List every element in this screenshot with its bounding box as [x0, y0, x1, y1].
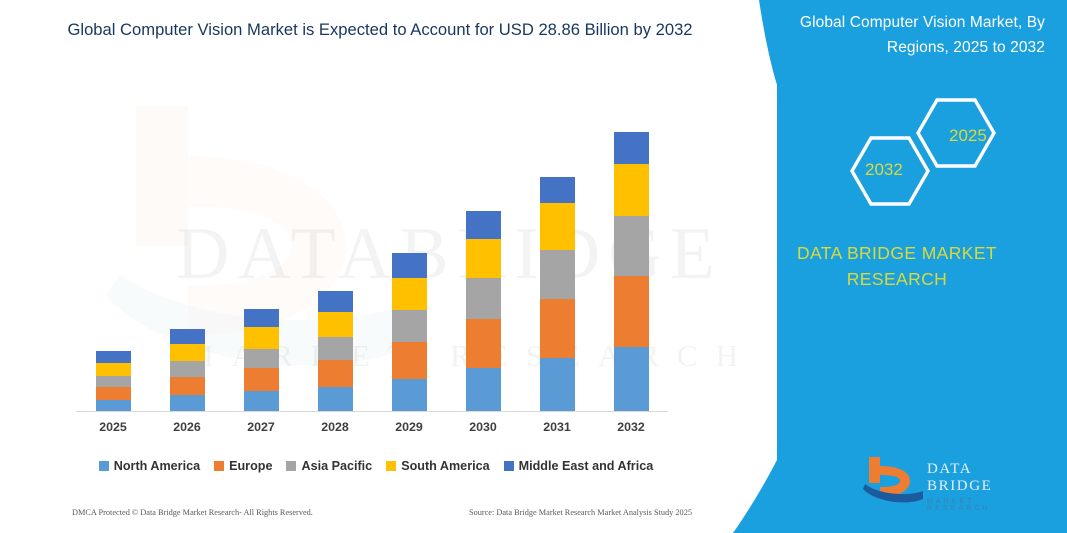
x-axis-label-2031: 2031: [533, 420, 581, 442]
bar-segment[interactable]: [540, 299, 575, 358]
bar-2030[interactable]: [466, 211, 501, 411]
bar-segment[interactable]: [318, 312, 353, 337]
bar-segment[interactable]: [466, 368, 501, 411]
bar-segment[interactable]: [614, 164, 649, 216]
bar-segment[interactable]: [244, 391, 279, 411]
bar-segment[interactable]: [392, 278, 427, 310]
chart-legend: North AmericaEuropeAsia PacificSouth Ame…: [76, 455, 676, 477]
data-bridge-b-logo-icon: [863, 455, 923, 507]
bar-segment[interactable]: [244, 349, 279, 368]
bar-2026[interactable]: [170, 329, 205, 411]
bar-segment[interactable]: [96, 351, 131, 363]
legend-swatch-icon: [214, 461, 224, 471]
hexagon-2025-label: 2025: [949, 126, 987, 146]
bar-segment[interactable]: [392, 379, 427, 411]
legend-swatch-icon: [386, 461, 396, 471]
bar-2025[interactable]: [96, 351, 131, 411]
legend-swatch-icon: [286, 461, 296, 471]
bar-segment[interactable]: [244, 368, 279, 391]
bar-segment[interactable]: [614, 216, 649, 276]
bar-segment[interactable]: [170, 377, 205, 395]
x-axis-label-2026: 2026: [163, 420, 211, 442]
bar-segment[interactable]: [318, 387, 353, 411]
legend-item[interactable]: Europe: [214, 459, 272, 473]
hexagon-outlines-icon: [837, 96, 1027, 208]
bar-2029[interactable]: [392, 253, 427, 411]
legend-label: Middle East and Africa: [519, 459, 654, 473]
legend-item[interactable]: Asia Pacific: [286, 459, 372, 473]
logo-text: DATA BRIDGE MARKET RESEARCH: [927, 461, 1039, 512]
x-axis-label-2030: 2030: [459, 420, 507, 442]
bar-2032[interactable]: [614, 132, 649, 411]
bar-segment[interactable]: [170, 361, 205, 377]
legend-swatch-icon: [504, 461, 514, 471]
bar-segment[interactable]: [170, 344, 205, 361]
bar-segment[interactable]: [318, 360, 353, 387]
bar-segment[interactable]: [614, 132, 649, 164]
bar-segment[interactable]: [466, 239, 501, 278]
x-axis-line: [76, 411, 668, 412]
legend-label: South America: [401, 459, 489, 473]
bar-2027[interactable]: [244, 309, 279, 411]
bar-segment[interactable]: [318, 337, 353, 360]
legend-label: North America: [114, 459, 200, 473]
bar-segment[interactable]: [614, 276, 649, 347]
bar-segment[interactable]: [540, 177, 575, 203]
x-axis-labels: 20252026202720282029203020312032: [76, 420, 668, 442]
bar-segment[interactable]: [96, 400, 131, 411]
x-axis-label-2028: 2028: [311, 420, 359, 442]
legend-item[interactable]: South America: [386, 459, 489, 473]
bar-segment[interactable]: [614, 347, 649, 411]
panel-title: Global Computer Vision Market, By Region…: [757, 10, 1045, 60]
bar-segment[interactable]: [244, 309, 279, 327]
bar-segment[interactable]: [244, 327, 279, 349]
footer-copyright: DMCA Protected © Data Bridge Market Rese…: [72, 508, 313, 524]
footer-source: Source: Data Bridge Market Research Mark…: [469, 508, 692, 524]
hexagon-2032-label: 2032: [865, 160, 903, 180]
brand-name: DATA BRIDGE MARKET RESEARCH: [757, 240, 1037, 292]
x-axis-label-2025: 2025: [89, 420, 137, 442]
bar-segment[interactable]: [466, 211, 501, 239]
x-axis-label-2029: 2029: [385, 420, 433, 442]
bar-segment[interactable]: [318, 291, 353, 312]
bar-segment[interactable]: [540, 250, 575, 299]
legend-item[interactable]: Middle East and Africa: [504, 459, 654, 473]
bar-segment[interactable]: [392, 310, 427, 342]
bar-2028[interactable]: [318, 291, 353, 411]
x-axis-label-2032: 2032: [607, 420, 655, 442]
hexagon-group: 2025 2032: [837, 96, 1027, 208]
bar-segment[interactable]: [540, 358, 575, 411]
legend-swatch-icon: [99, 461, 109, 471]
bar-segment[interactable]: [466, 278, 501, 319]
bar-segment[interactable]: [540, 203, 575, 250]
legend-label: Asia Pacific: [301, 459, 372, 473]
infographic-root: DATABRIDGE MARKET RESEARCH Global Comput…: [0, 0, 1067, 533]
logo-main-text: DATA BRIDGE: [927, 461, 1039, 495]
bar-segment[interactable]: [392, 253, 427, 278]
logo-sub-text: MARKET RESEARCH: [927, 498, 1039, 512]
bar-segment[interactable]: [96, 376, 131, 387]
legend-label: Europe: [229, 459, 272, 473]
bar-group: [76, 100, 668, 411]
bar-segment[interactable]: [392, 342, 427, 379]
legend-item[interactable]: North America: [99, 459, 200, 473]
x-axis-label-2027: 2027: [237, 420, 285, 442]
chart-plot-area: [76, 100, 668, 412]
bar-segment[interactable]: [96, 363, 131, 376]
bar-segment[interactable]: [466, 319, 501, 368]
data-bridge-logo: DATA BRIDGE MARKET RESEARCH: [863, 455, 1039, 511]
bar-segment[interactable]: [96, 387, 131, 400]
bar-segment[interactable]: [170, 329, 205, 344]
bar-2031[interactable]: [540, 177, 575, 411]
footer: DMCA Protected © Data Bridge Market Rese…: [72, 508, 692, 524]
bar-segment[interactable]: [170, 395, 205, 411]
page-title: Global Computer Vision Market is Expecte…: [60, 16, 700, 44]
